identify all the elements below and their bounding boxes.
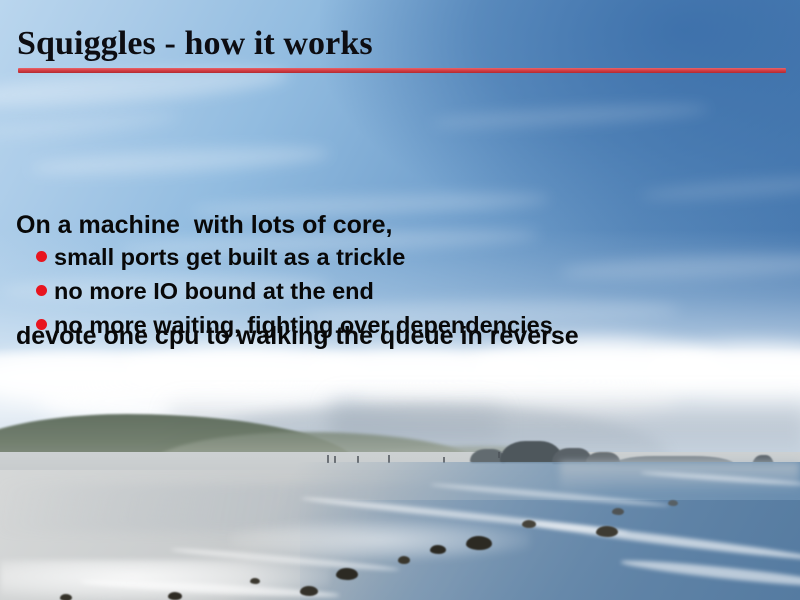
sea-foam [0, 560, 330, 600]
bullet-dot-icon [36, 319, 47, 330]
lead-line-1: On a machine with lots of core, [16, 207, 776, 244]
bullet-dot-icon [36, 251, 47, 262]
beach-walker [498, 452, 500, 458]
list-item: no more waiting, fighting over dependenc… [36, 308, 776, 342]
title-underline-rule [18, 68, 786, 73]
slide: Squiggles - how it works On a machine wi… [0, 0, 800, 600]
list-item: small ports get built as a trickle [36, 240, 776, 274]
waterline-debris [596, 526, 618, 537]
waterline-debris [398, 556, 410, 564]
waterline-debris [336, 568, 358, 580]
waterline-debris [60, 594, 72, 600]
list-item-label: no more IO bound at the end [54, 274, 374, 308]
list-item: no more IO bound at the end [36, 274, 776, 308]
waterline-debris [466, 536, 492, 550]
waterline-debris [300, 586, 318, 596]
bullet-list: small ports get built as a trickle no mo… [36, 240, 776, 342]
list-item-label: small ports get built as a trickle [54, 240, 405, 274]
waterline-debris [250, 578, 260, 584]
waterline-debris [668, 500, 678, 506]
slide-title: Squiggles - how it works [17, 25, 373, 63]
waterline-debris [168, 592, 182, 600]
waterline-debris [430, 545, 446, 554]
waterline-debris [612, 508, 624, 515]
list-item-label: no more waiting, fighting over dependenc… [54, 308, 553, 342]
bullet-dot-icon [36, 285, 47, 296]
waterline-debris [522, 520, 536, 528]
